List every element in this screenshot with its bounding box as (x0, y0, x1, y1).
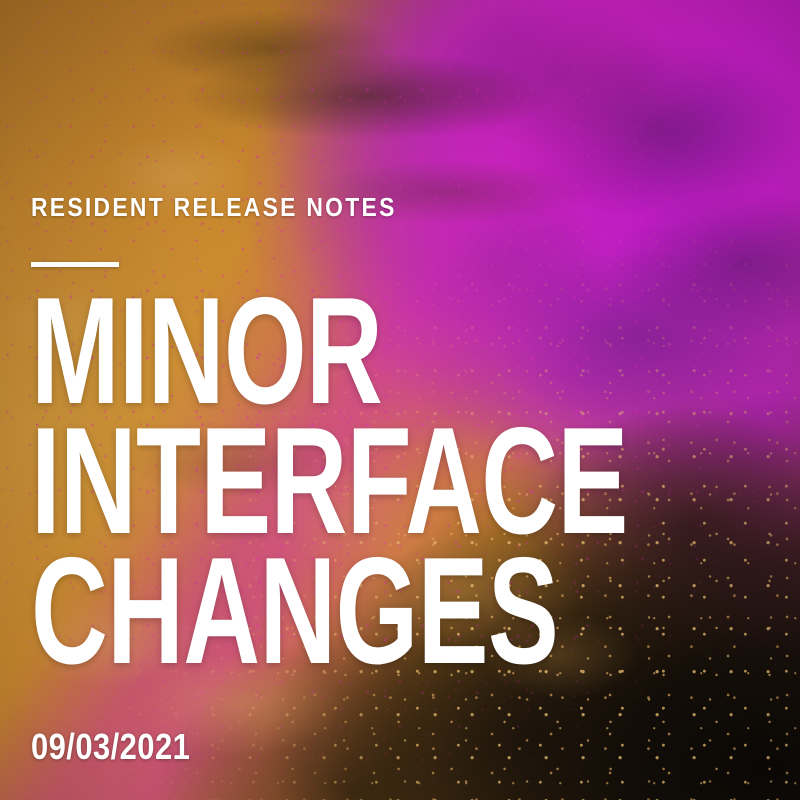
page-title-line-3: CHANGES (31, 546, 549, 676)
page-title: MINOR INTERFACE CHANGES (31, 286, 771, 676)
poster-content: RESIDENT RELEASE NOTES MINOR INTERFACE C… (0, 0, 800, 800)
eyebrow-label: RESIDENT RELEASE NOTES (31, 193, 397, 221)
release-notes-poster: RESIDENT RELEASE NOTES MINOR INTERFACE C… (0, 0, 800, 800)
release-date: 09/03/2021 (31, 728, 190, 766)
